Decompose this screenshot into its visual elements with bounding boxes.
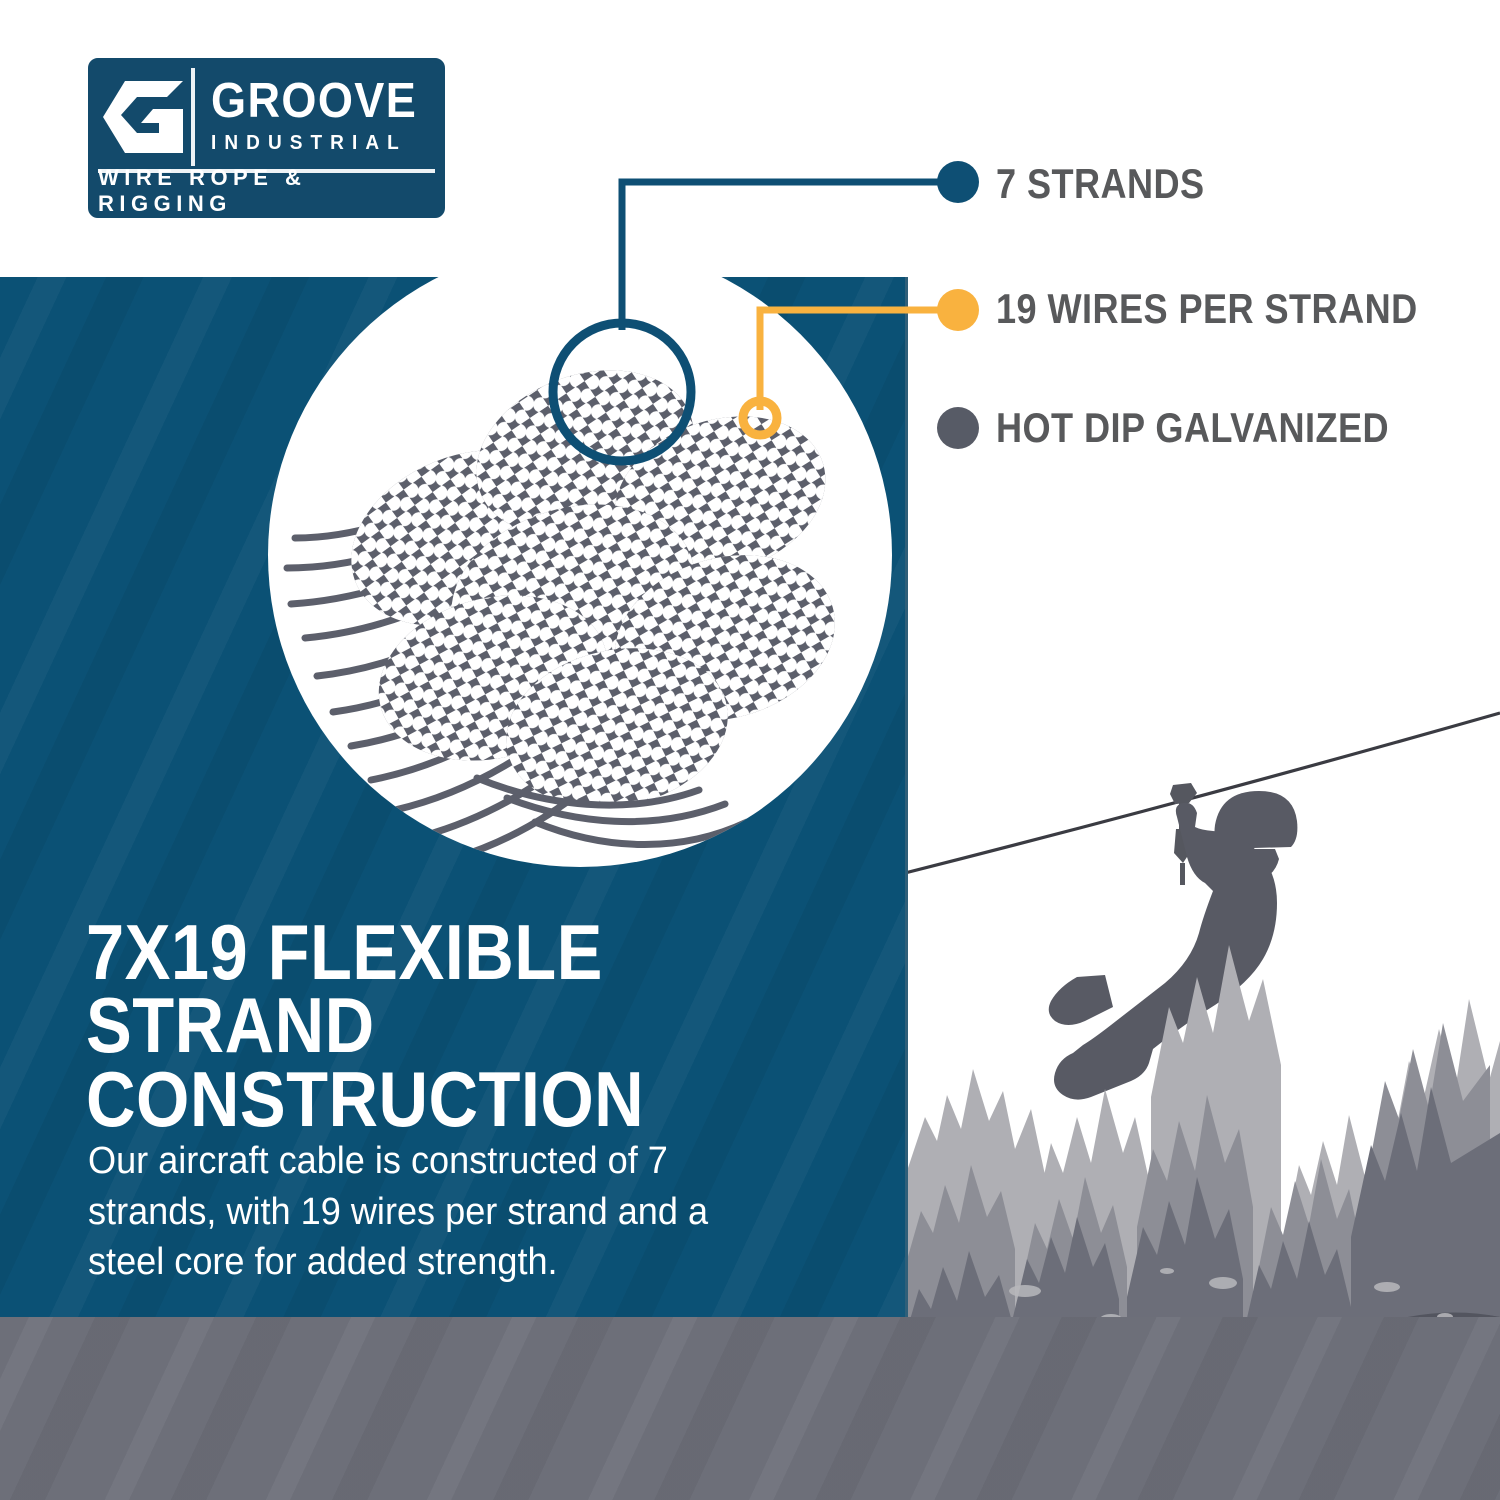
- bottom-stripe-texture: [0, 1317, 1500, 1500]
- g-hexagon-icon: [98, 68, 195, 166]
- callout-dot-strands: [937, 161, 979, 203]
- callout-label-strands: 7 STRANDS: [996, 160, 1205, 208]
- headline-line-2: STRAND CONSTRUCTION: [86, 989, 781, 1136]
- magnifier-ring-icon: [553, 323, 691, 461]
- callout-label-wires: 19 WIRES PER STRAND: [996, 285, 1418, 333]
- callout-dot-wires: [937, 289, 979, 331]
- brand-logo[interactable]: GROOVE INDUSTRIAL WIRE ROPE & RIGGING: [88, 58, 445, 218]
- hero-body-copy: Our aircraft cable is constructed of 7 s…: [88, 1136, 753, 1288]
- callout-dot-galvanized: [937, 407, 979, 449]
- logo-subwordmark: INDUSTRIAL: [211, 132, 424, 155]
- g-hexagon-glyph: [101, 79, 187, 155]
- logo-wordmark: GROOVE: [211, 79, 417, 124]
- logo-tagline: WIRE ROPE & RIGGING: [98, 165, 435, 217]
- callout-label-galvanized: HOT DIP GALVANIZED: [996, 404, 1389, 452]
- page-title: 7X19 FLEXIBLE STRAND CONSTRUCTION: [86, 916, 781, 1136]
- leader-line-wires: [760, 310, 952, 410]
- bottom-gray-band: [0, 1317, 1500, 1500]
- infographic-canvas: 7 STRANDS 19 WIRES PER STRAND HOT DIP GA…: [0, 0, 1500, 1500]
